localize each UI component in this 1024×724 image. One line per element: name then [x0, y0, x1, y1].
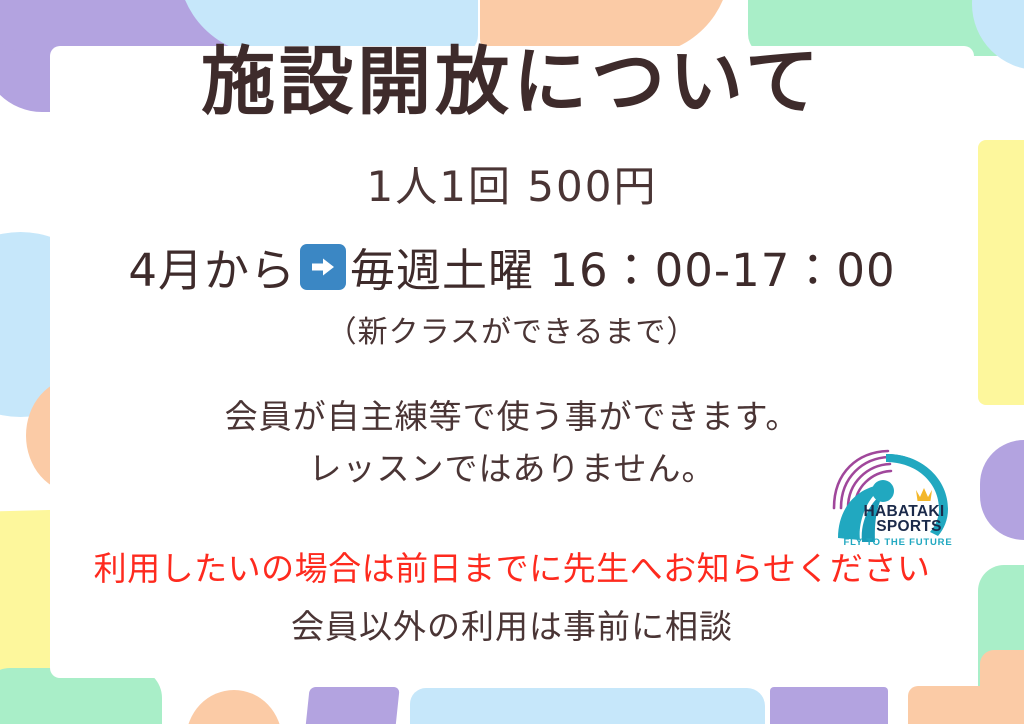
body-text-block: 会員が自主練等で使う事ができます。 レッスンではありません。 — [225, 391, 800, 493]
logo-name-line-2: SPORTS — [876, 518, 942, 535]
schedule-end-text: 毎週土曜 16：00-17：00 — [350, 234, 896, 299]
right-arrow-icon — [300, 244, 346, 290]
poster-title: 施設開放について — [201, 42, 823, 123]
warning-text: 利用したいの場合は前日までに先生へお知らせください — [94, 542, 931, 590]
body-line-1: 会員が自主練等で使う事ができます。 — [225, 391, 800, 442]
body-line-2: レッスンではありません。 — [225, 443, 800, 494]
secondary-note-text: 会員以外の利用は事前に相談 — [291, 600, 733, 648]
schedule-line: 4月から 毎週土曜 16：00-17：00 — [128, 234, 895, 299]
schedule-start-text: 4月から — [128, 234, 296, 299]
schedule-subnote: （新クラスができるまで） — [327, 307, 698, 351]
poster-content: 施設開放について 1人1回 500円 4月から 毎週土曜 16：00-17：00… — [0, 0, 1024, 724]
poster-canvas: 施設開放について 1人1回 500円 4月から 毎週土曜 16：00-17：00… — [0, 0, 1024, 724]
habataki-sports-logo: HABATAKI SPORTS FLY TO THE FUTURE — [826, 446, 976, 556]
price-line: 1人1回 500円 — [367, 153, 658, 214]
logo-tagline: FLY TO THE FUTURE — [844, 537, 953, 548]
